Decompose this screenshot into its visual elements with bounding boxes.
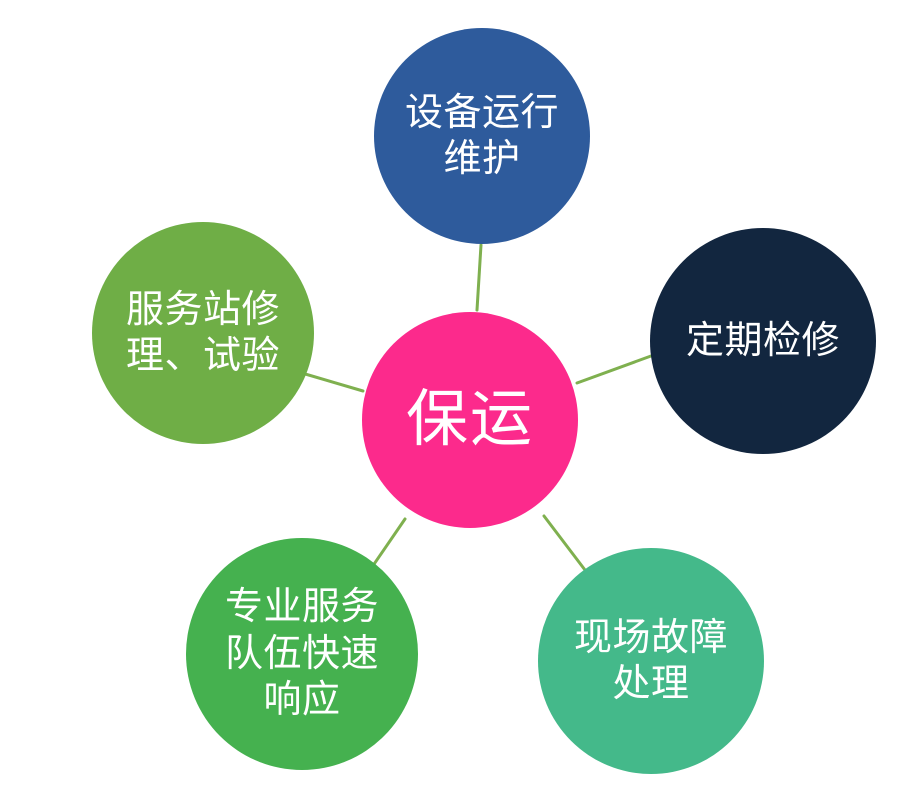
node-hub-baoyun[interactable]: 保运 — [362, 312, 578, 528]
node-label-team: 专业服务 队伍快速 响应 — [219, 584, 385, 723]
connector-hub-to-team — [370, 519, 405, 570]
connector-hub-to-overhaul — [577, 356, 651, 383]
node-service-station-repair-testing[interactable]: 服务站修 理、试验 — [92, 222, 314, 444]
node-label-overhaul: 定期检修 — [680, 318, 846, 364]
hub-spoke-diagram: 设备运行 维护 定期检修 现场故障 处理 专业服务 队伍快速 响应 服务站修 理… — [0, 0, 900, 798]
connector-hub-to-equipment — [477, 245, 481, 310]
node-periodic-overhaul[interactable]: 定期检修 — [650, 228, 876, 454]
node-label-equipment: 设备运行 维护 — [399, 90, 565, 183]
node-label-fault: 现场故障 处理 — [568, 615, 734, 708]
node-label-hub: 保运 — [400, 386, 540, 454]
connector-hub-to-fault — [544, 516, 585, 570]
node-label-station: 服务站修 理、试验 — [120, 287, 286, 380]
node-onsite-fault-handling[interactable]: 现场故障 处理 — [538, 548, 764, 774]
node-equipment-operation-maintenance[interactable]: 设备运行 维护 — [374, 28, 590, 244]
node-service-team-rapid-response[interactable]: 专业服务 队伍快速 响应 — [186, 538, 418, 770]
